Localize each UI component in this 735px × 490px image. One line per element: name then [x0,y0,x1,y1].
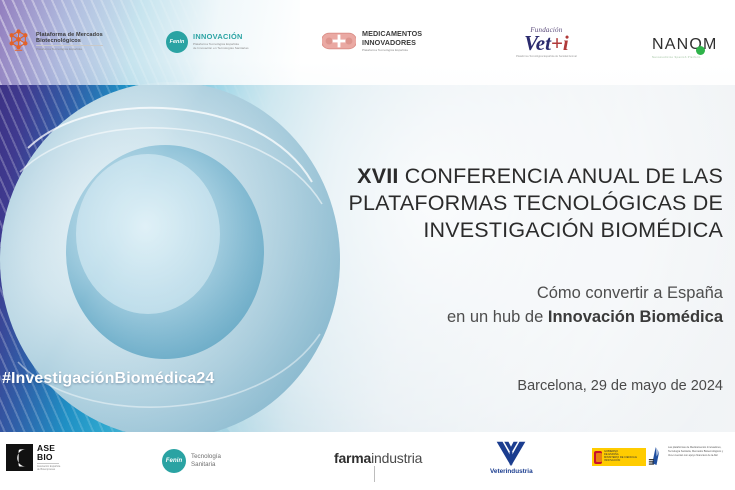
subtitle-line-2-prefix: en un hub de [447,308,548,326]
title-line-3: INVESTIGACIÓN BIOMÉDICA [423,218,723,242]
logo-line-1: Tecnología [191,454,221,461]
logo-line-1: NANOM [652,36,718,54]
logo-aei-apoyo-financiero[interactable]: Las plataformas de Medicamentos Innovado… [648,446,735,467]
fenin-mark: Fenin [166,458,183,464]
logo-line-3: Vet+i cuentan con apoyo financiero de la… [668,454,735,458]
veterindustria-v-icon [494,440,528,467]
logo-farmaindustria[interactable]: farmaindustria [334,450,422,466]
logo-veterindustria[interactable]: Veterindustria [490,440,533,475]
top-logo-row: Plataforma de Mercados Biotecnológicos P… [0,0,735,85]
fenin-circle-icon: Fenin [166,31,188,53]
logo-line-3: Asociación Española de Bioempresas [37,465,63,471]
logo-fundacion-vet-i[interactable]: Fundación Vet+i Plataforma Tecnológica E… [516,26,577,58]
logo-gobierno-de-espana[interactable]: GOBIERNO DE ESPAÑA MINISTERIO DE CIENCIA… [592,448,646,466]
capsule-icon [322,29,356,53]
logo-line-3: de Innovación en Tecnologías Sanitarias [193,47,249,50]
logo-line-1: Veterindustria [490,468,533,475]
title-ordinal: XVII [357,164,398,188]
title-line-2: PLATAFORMAS TECNOLÓGICAS DE [348,191,723,215]
aei-icon [648,446,665,467]
conference-poster: Plataforma de Mercados Biotecnológicos P… [0,0,735,490]
hex-network-icon [6,29,31,54]
green-dot-icon [696,41,705,59]
logo-line-2: Nanomedicine Spanish Platform [652,56,701,59]
logo-line-2: Biotecnológicos [36,38,103,44]
logo-fenin-tecnologia-sanitaria[interactable]: Fenin Tecnología Sanitaria [162,449,221,473]
logo-plataforma-mercados-biotecnologicos[interactable]: Plataforma de Mercados Biotecnológicos P… [6,29,103,54]
logo-line-3: Plataforma Tecnológica Española [362,49,422,52]
page-subtitle: Cómo convertir a España en un hub de Inn… [303,281,723,329]
asebio-square-icon [6,444,33,471]
page-title: XVII CONFERENCIA ANUAL DE LAS PLATAFORMA… [303,163,723,244]
logo-line-1: Vet+i [524,33,569,53]
logo-line-3: Plataforma Tecnológica Española de Sanid… [516,55,577,58]
industria-rest: industria [371,450,422,466]
logo-nanomed-spain[interactable]: NANOM Nanomedicine Spanish Platform [652,36,718,59]
event-hashtag[interactable]: #InvestigaciónBiomédica24 [2,370,214,388]
fenin-mark: Fenin [170,39,185,45]
logo-line-1: Plataforma de Mercados [36,32,103,38]
logo-line-2: INNOVADORES [362,39,422,47]
logo-asebio[interactable]: ASE BIO Asociación Española de Bioempres… [6,444,63,471]
logo-line-2: BIO [37,453,63,462]
logo-fenin-innovacion[interactable]: Fenin INNOVACIÓN Plataforma Tecnológica … [166,31,249,53]
title-line-1-rest: CONFERENCIA ANUAL DE LAS [399,164,723,188]
subtitle-line-2-bold: Innovación Biomédica [548,308,723,326]
subtitle-line-1: Cómo convertir a España [537,284,723,302]
spiral-torus-graphic [0,62,380,462]
logo-medicamentos-innovadores[interactable]: MEDICAMENTOS INNOVADORES Plataforma Tecn… [322,29,422,53]
logo-line-1: MEDICAMENTOS [362,30,422,38]
logo-line-3: MINISTERIO DE CIENCIA E INNOVACIÓN [604,457,644,463]
farmaindustria-rule [374,466,375,482]
spain-coat-of-arms-icon: GOBIERNO DE ESPAÑA MINISTERIO DE CIENCIA… [592,448,646,466]
farmaindustria-wordmark: farmaindustria [334,450,422,466]
logo-line-3: Plataforma Tecnológica Española [36,48,103,51]
nanom-text: NANOM [652,36,718,53]
bottom-logo-row: ASE BIO Asociación Española de Bioempres… [0,432,735,490]
logo-line-1: INNOVACIÓN [193,33,249,41]
event-date-location: Barcelona, 29 de mayo de 2024 [303,378,723,394]
farma-bold: farma [334,450,371,466]
logo-line-2: Sanitaria [191,462,221,469]
fenin-circle-icon: Fenin [162,449,186,473]
